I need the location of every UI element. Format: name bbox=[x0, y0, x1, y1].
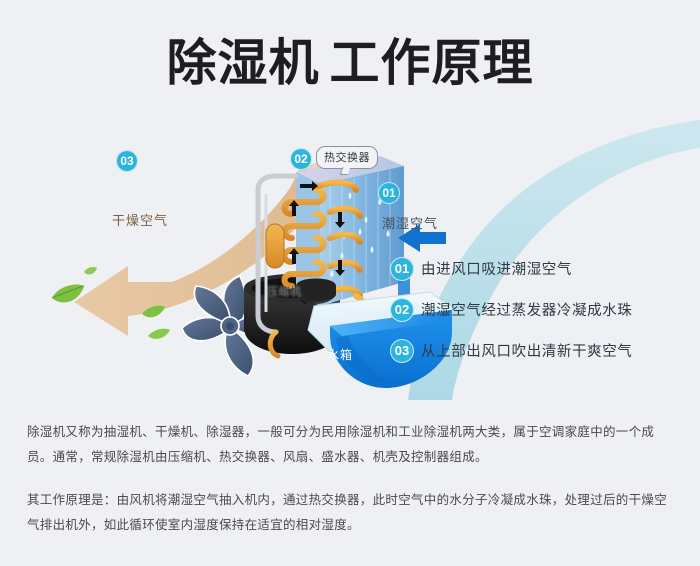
badge-dry-air: 03 bbox=[116, 150, 138, 172]
legend-item-01: 01 由进风口吸进潮湿空气 bbox=[390, 255, 680, 282]
description-paragraph-2: 其工作原理是：由风机将潮湿空气抽入机内，通过热交换器，此时空气中的水分子冷凝成水… bbox=[27, 488, 677, 538]
badge-humid-air: 01 bbox=[378, 182, 400, 204]
legend-item-02: 02 潮湿空气经过蒸发器冷凝成水珠 bbox=[390, 296, 680, 323]
description-paragraph-1: 除湿机又称为抽湿机、干燥机、除湿器，一般可分为民用除湿机和工业除湿机两大类，属于… bbox=[27, 420, 677, 470]
legend-list: 01 由进风口吸进潮湿空气 02 潮湿空气经过蒸发器冷凝成水珠 03 从上部出风… bbox=[390, 255, 680, 378]
page-title-sub: 工作原理 bbox=[330, 35, 534, 91]
label-water-tank: 水箱 bbox=[327, 346, 353, 363]
page-root: 除湿机工作原理 bbox=[0, 0, 700, 566]
label-compressor: 压缩机 bbox=[267, 283, 302, 299]
legend-label-01: 由进风口吸进潮湿空气 bbox=[421, 258, 572, 279]
legend-badge-02: 02 bbox=[390, 298, 414, 322]
label-dry-air: 干燥空气 bbox=[112, 210, 168, 229]
badge-heat-exchanger: 02 bbox=[290, 148, 312, 170]
description-block: 除湿机又称为抽湿机、干燥机、除湿器，一般可分为民用除湿机和工业除湿机两大类，属于… bbox=[27, 420, 677, 538]
label-humid-air: 潮湿空气 bbox=[382, 213, 438, 232]
legend-item-03: 03 从上部出风口吹出清新干爽空气 bbox=[390, 337, 680, 364]
compressor-unit bbox=[296, 279, 336, 305]
legend-label-02: 潮湿空气经过蒸发器冷凝成水珠 bbox=[421, 299, 632, 320]
page-title: 除湿机工作原理 bbox=[0, 32, 700, 94]
callout-heat-exchanger: 热交换器 bbox=[316, 146, 378, 169]
legend-label-03: 从上部出风口吹出清新干爽空气 bbox=[421, 340, 632, 361]
legend-badge-03: 03 bbox=[390, 339, 414, 363]
legend-badge-01: 01 bbox=[390, 257, 414, 281]
page-title-main: 除湿机 bbox=[167, 35, 320, 91]
